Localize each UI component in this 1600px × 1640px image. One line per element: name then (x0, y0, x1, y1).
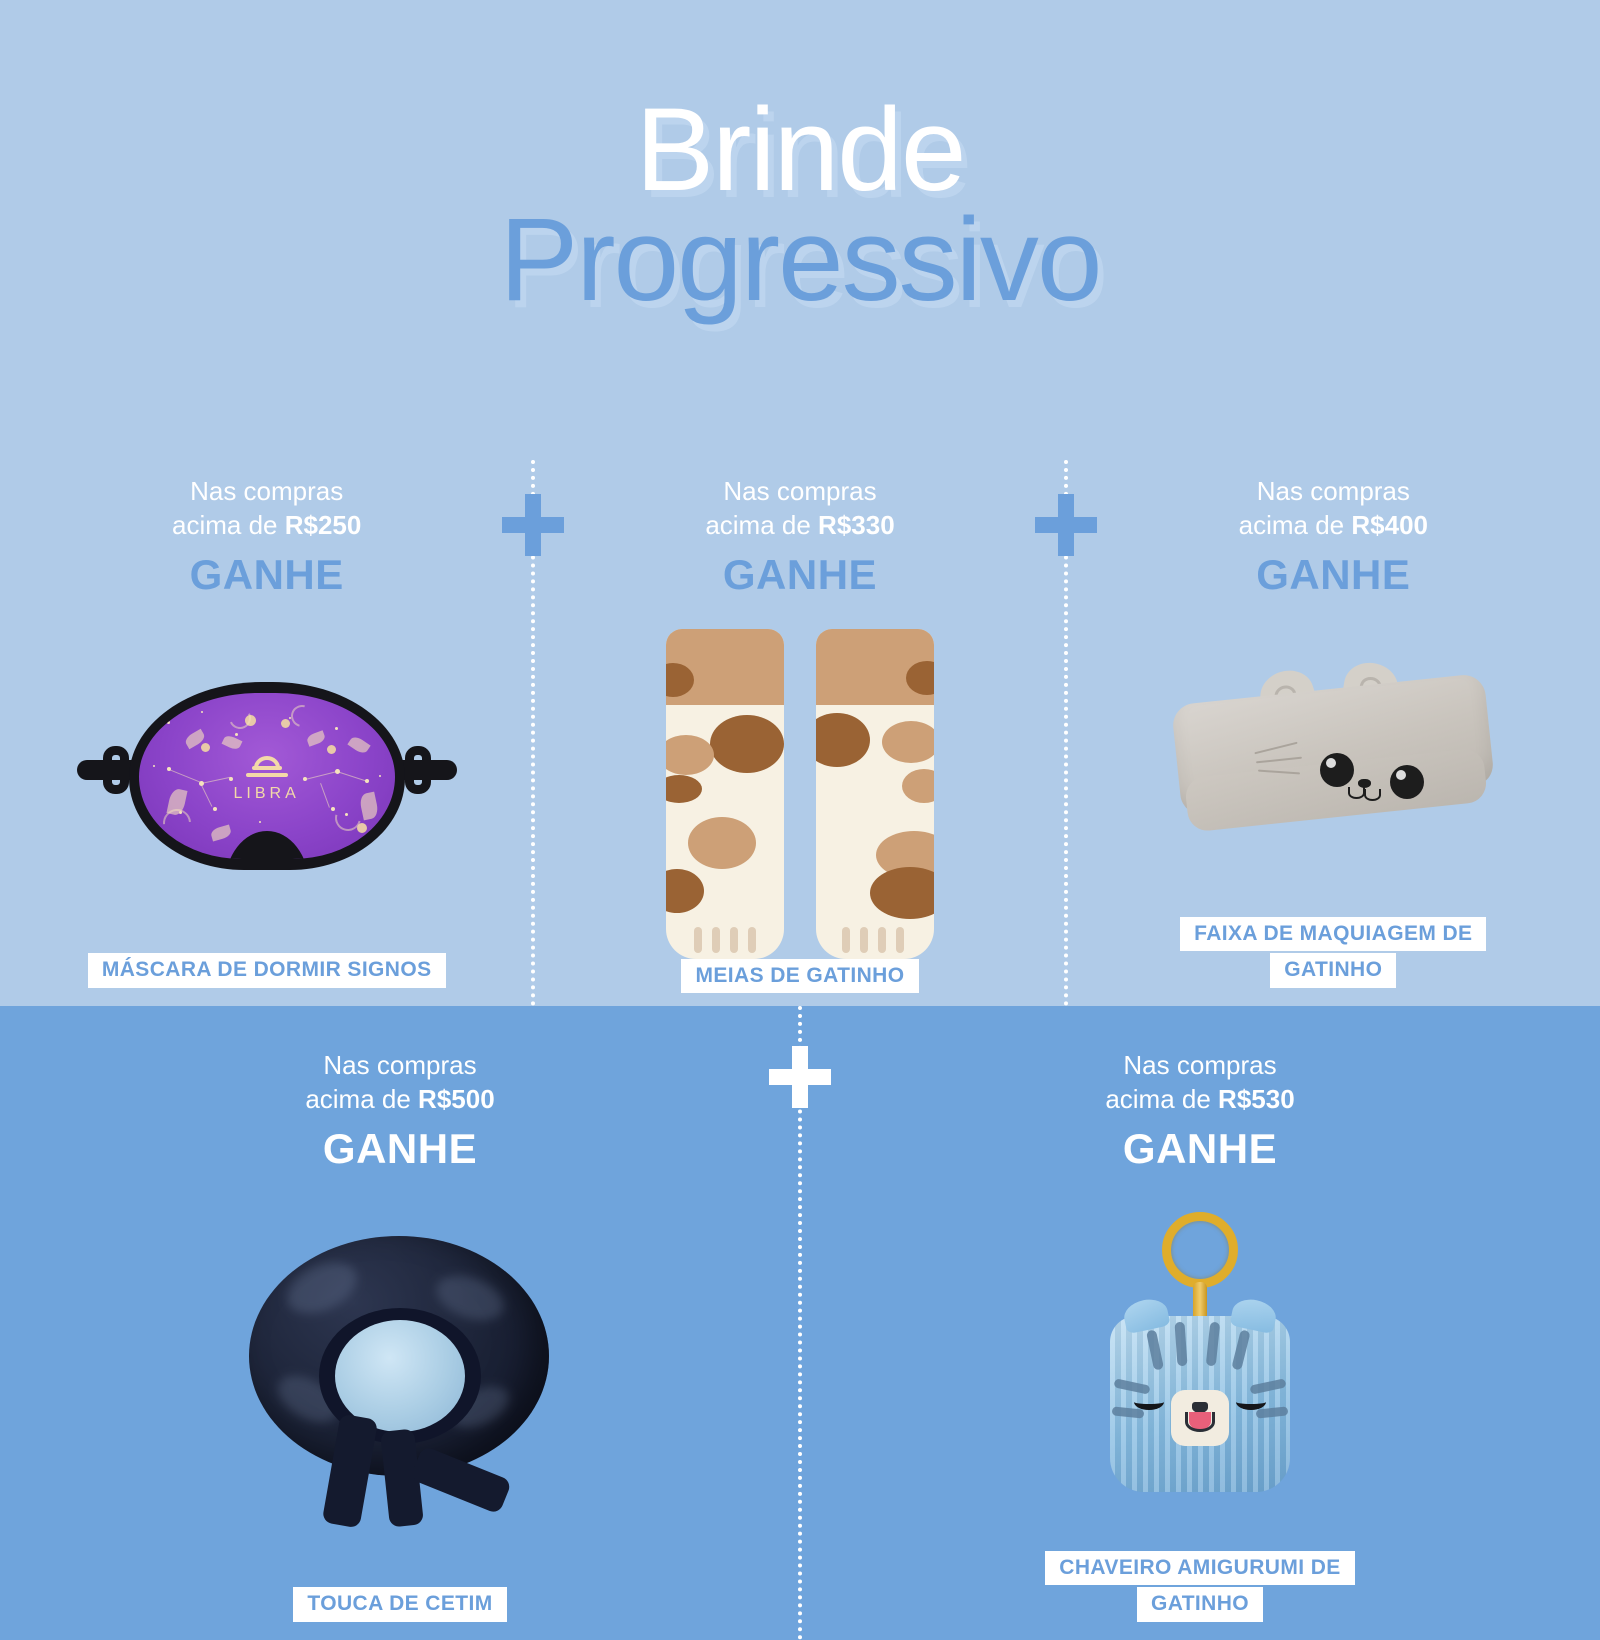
satin-bonnet-icon (235, 1230, 565, 1530)
plus-separator-3 (769, 1046, 831, 1108)
banner-header: Brinde Progressivo (0, 0, 1600, 452)
tier-row-top: Nas compras acima de R$250 GANHE (0, 452, 1600, 1006)
product-label: TOUCA DE CETIM (293, 1587, 506, 1622)
product-stage (0, 1173, 800, 1588)
tier-row-bottom: Nas compras acima de R$500 GANHE (0, 1006, 1600, 1640)
tier-card-530[interactable]: Nas compras acima de R$530 GANHE (800, 1006, 1600, 1640)
product-label: MÁSCARA DE DORMIR SIGNOS (88, 953, 446, 988)
product-label-group: MEIAS DE GATINHO (533, 959, 1066, 994)
offer-amount: R$330 (818, 510, 895, 540)
product-stage (1067, 599, 1600, 917)
product-label-group: MÁSCARA DE DORMIR SIGNOS (0, 953, 533, 988)
offer-prefix-line-2: acima de (705, 510, 811, 540)
cat-keychain-icon (1075, 1212, 1325, 1512)
reward-word: GANHE (190, 551, 344, 599)
offer-amount: R$250 (285, 510, 362, 540)
offer-prefix-line-1: Nas compras (190, 476, 343, 506)
product-label: CHAVEIRO AMIGURUMI DE (1045, 1551, 1354, 1586)
libra-zodiac-icon (242, 749, 292, 781)
offer-threshold-text: Nas compras acima de R$250 (172, 474, 361, 543)
offer-prefix-line-1: Nas compras (323, 1050, 476, 1080)
offer-threshold-text: Nas compras acima de R$530 (1105, 1048, 1294, 1117)
product-label: FAIXA DE MAQUIAGEM DE (1180, 917, 1486, 952)
title-line-1: Brinde (635, 93, 964, 209)
offer-threshold-text: Nas compras acima de R$400 (1239, 474, 1428, 543)
offer-amount: R$500 (418, 1084, 495, 1114)
offer-prefix-line-2: acima de (1239, 510, 1345, 540)
plus-separator-2 (1035, 494, 1097, 556)
tier-card-500[interactable]: Nas compras acima de R$500 GANHE (0, 1006, 800, 1640)
product-label-group: CHAVEIRO AMIGURUMI DE GATINHO (800, 1551, 1600, 1622)
sleep-mask-icon: LIBRA (77, 676, 457, 876)
reward-word: GANHE (1123, 1125, 1277, 1173)
product-label-group: FAIXA DE MAQUIAGEM DE GATINHO (1067, 917, 1600, 988)
promo-banner: Brinde Progressivo Nas compras acima de … (0, 0, 1600, 1640)
zodiac-label: LIBRA (139, 785, 395, 803)
reward-word: GANHE (723, 551, 877, 599)
offer-prefix-line-1: Nas compras (723, 476, 876, 506)
product-label-group: TOUCA DE CETIM (0, 1587, 800, 1622)
socks-icon (650, 629, 950, 959)
product-stage: LIBRA (0, 599, 533, 954)
offer-prefix-line-1: Nas compras (1257, 476, 1410, 506)
offer-amount: R$400 (1351, 510, 1428, 540)
product-stage (533, 599, 1066, 959)
product-label-line-2: GATINHO (1270, 953, 1396, 988)
title-line-2: Progressivo (499, 203, 1100, 319)
offer-prefix-line-2: acima de (172, 510, 278, 540)
reward-word: GANHE (323, 1125, 477, 1173)
reward-word: GANHE (1256, 551, 1410, 599)
plus-separator-1 (502, 494, 564, 556)
offer-prefix-line-1: Nas compras (1123, 1050, 1276, 1080)
offer-threshold-text: Nas compras acima de R$330 (705, 474, 894, 543)
product-label: MEIAS DE GATINHO (681, 959, 918, 994)
tier-card-400[interactable]: Nas compras acima de R$400 GANHE (1067, 452, 1600, 1006)
offer-prefix-line-2: acima de (305, 1084, 411, 1114)
offer-prefix-line-2: acima de (1105, 1084, 1211, 1114)
offer-threshold-text: Nas compras acima de R$500 (305, 1048, 494, 1117)
tier-card-250[interactable]: Nas compras acima de R$250 GANHE (0, 452, 533, 1006)
offer-amount: R$530 (1218, 1084, 1295, 1114)
product-label-line-2: GATINHO (1137, 1587, 1263, 1622)
tier-card-330[interactable]: Nas compras acima de R$330 GANHE (533, 452, 1066, 1006)
cat-headband-icon (1168, 643, 1498, 873)
product-stage (800, 1173, 1600, 1551)
